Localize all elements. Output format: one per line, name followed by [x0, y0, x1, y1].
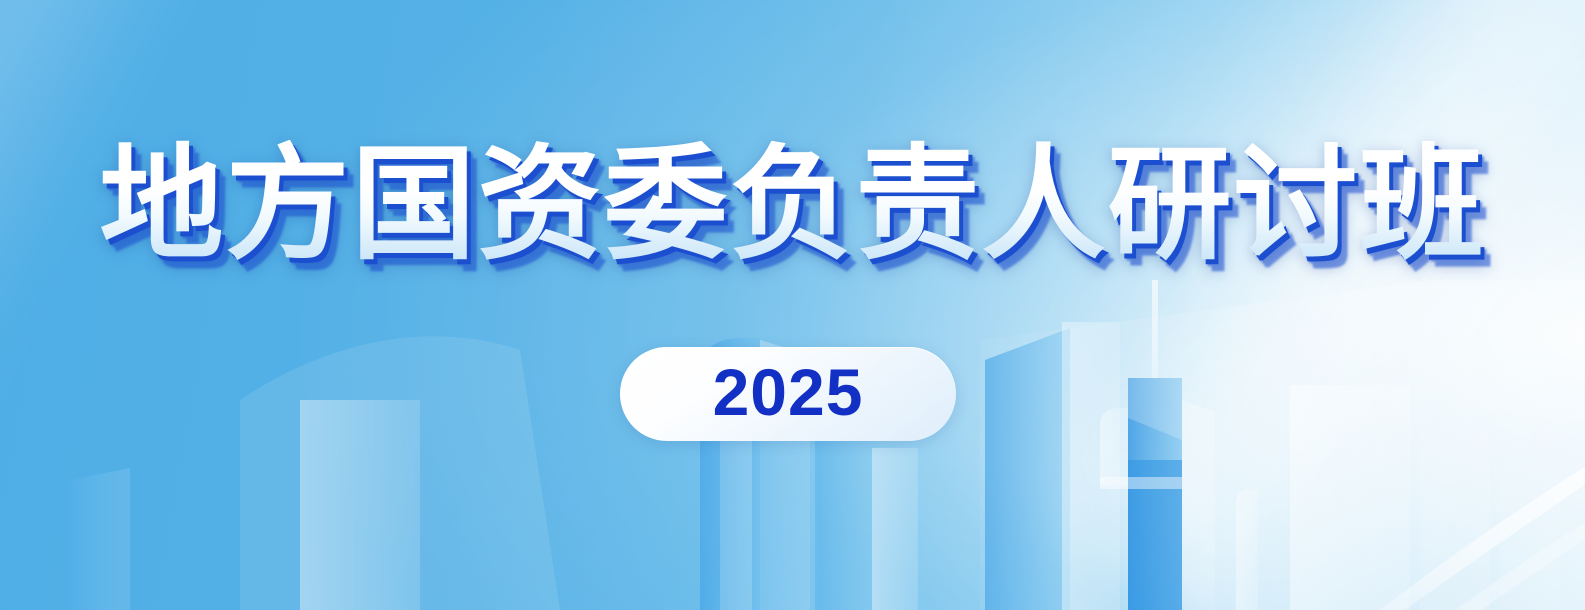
- event-banner: 地方国资委负责人研讨班 2025: [0, 0, 1585, 610]
- year-badge-label: 2025: [713, 359, 864, 429]
- page-title: 地方国资委负责人研讨班: [0, 140, 1585, 271]
- year-badge: 2025: [620, 347, 956, 441]
- city-skyline-illustration: [0, 280, 1585, 610]
